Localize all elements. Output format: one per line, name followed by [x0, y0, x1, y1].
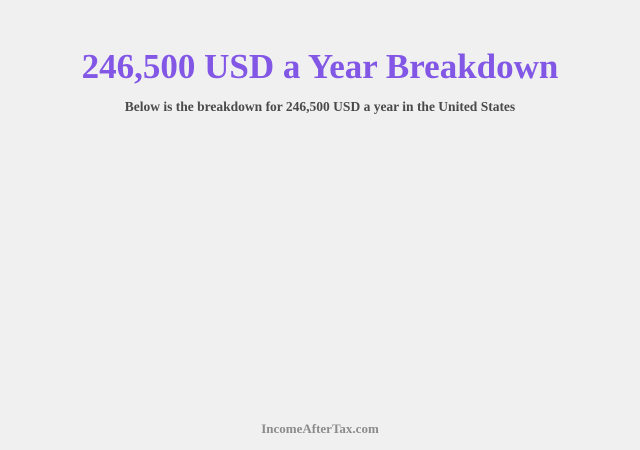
- page-title: 246,500 USD a Year Breakdown: [0, 45, 640, 89]
- site-watermark: IncomeAfterTax.com: [0, 421, 640, 437]
- page-subtitle: Below is the breakdown for 246,500 USD a…: [0, 98, 640, 116]
- breakdown-page: 246,500 USD a Year Breakdown Below is th…: [0, 0, 640, 450]
